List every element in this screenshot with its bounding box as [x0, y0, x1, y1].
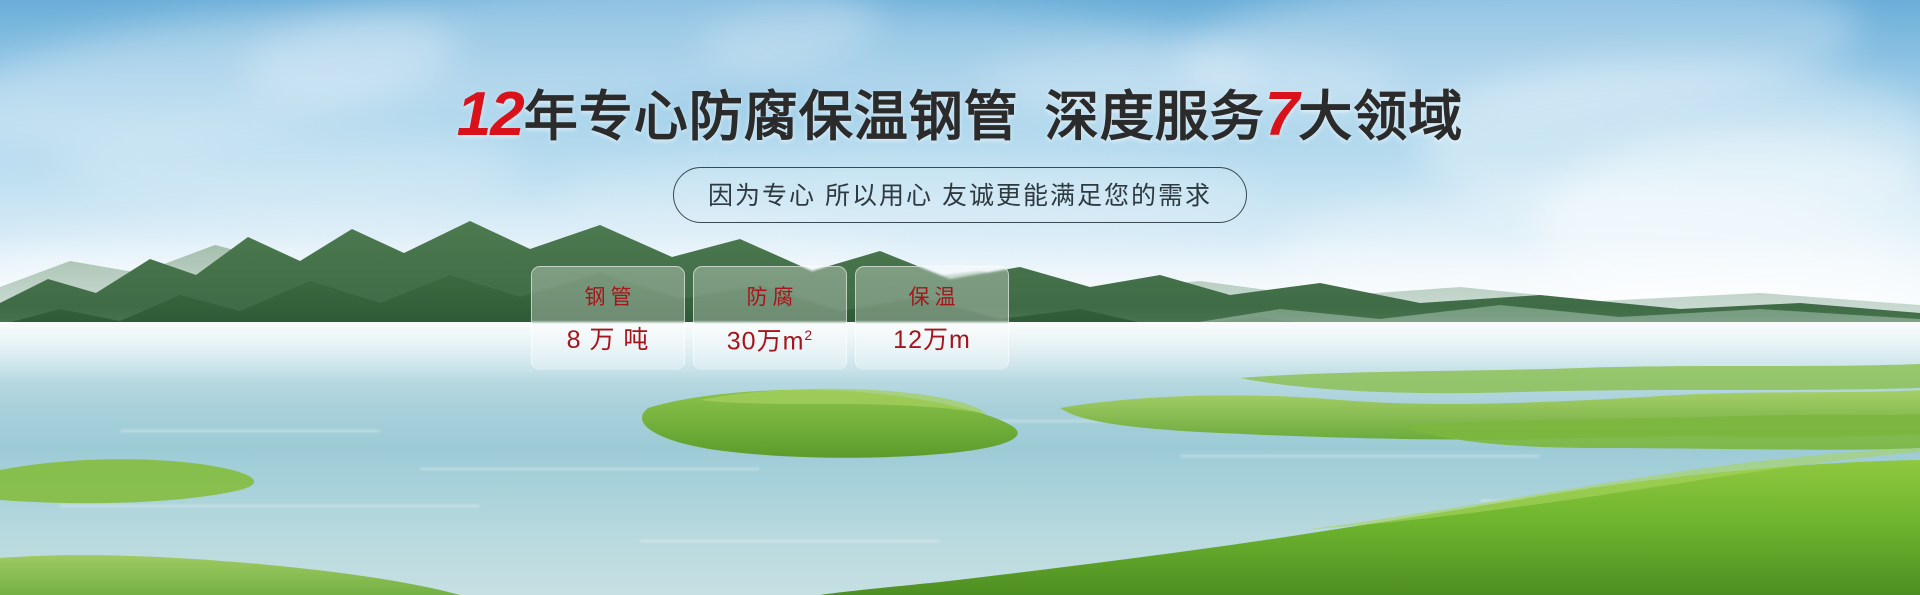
headline-part-2-post: 大领域 — [1298, 87, 1463, 147]
stat-card-label: 防腐 — [742, 287, 799, 308]
stat-value-text: 30万m — [727, 327, 805, 355]
stat-value-superscript: 2 — [804, 327, 813, 343]
stat-card-insulation[interactable]: 保温 12万m — [855, 266, 1009, 370]
headline-part-2-pre: 深度服务 — [1045, 87, 1265, 147]
stat-card-value: 30万m2 — [727, 328, 813, 354]
subtitle-pill: 因为专心 所以用心 友诚更能满足您的需求 — [673, 167, 1247, 223]
page-title: 12年专心防腐保温钢管深度服务7大领域 — [0, 84, 1920, 146]
stat-value-text: 12万m — [893, 326, 971, 354]
fields-number: 7 — [1265, 80, 1298, 149]
stat-value-text: 8 万 吨 — [567, 326, 650, 354]
stat-card-steel-pipe[interactable]: 钢管 8 万 吨 — [531, 266, 685, 370]
hero-banner: 12年专心防腐保温钢管深度服务7大领域 因为专心 所以用心 友诚更能满足您的需求… — [0, 0, 1920, 595]
stat-card-anticorrosion[interactable]: 防腐 30万m2 — [693, 266, 847, 370]
stat-card-value: 12万m — [893, 328, 971, 353]
stat-card-value: 8 万 吨 — [567, 328, 650, 353]
stat-card-label: 保温 — [904, 287, 961, 308]
subtitle-container: 因为专心 所以用心 友诚更能满足您的需求 — [0, 167, 1920, 223]
years-number: 12 — [457, 80, 524, 149]
stat-card-label: 钢管 — [580, 287, 637, 308]
headline-part-1: 年专心防腐保温钢管 — [524, 87, 1019, 147]
stat-card-group: 钢管 8 万 吨 防腐 30万m2 保温 12万m — [531, 266, 1009, 370]
